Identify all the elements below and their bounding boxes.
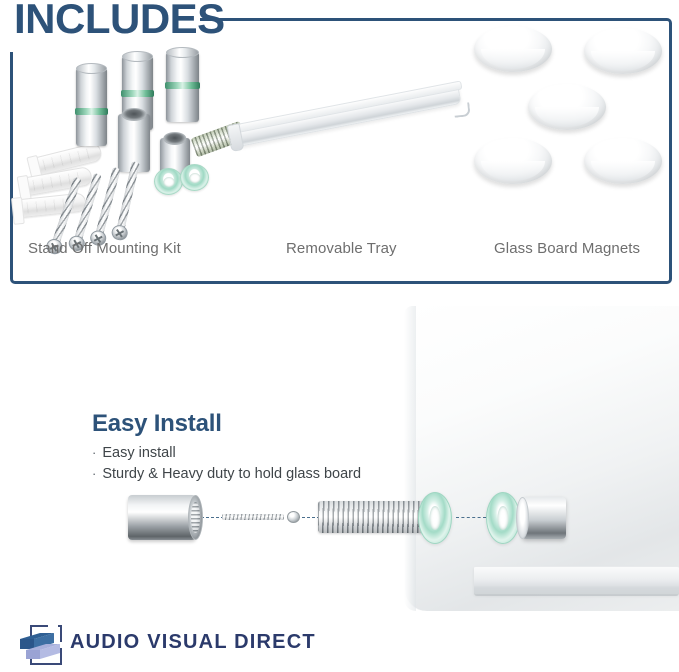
easy-install-bullet-text: Easy install <box>102 444 175 462</box>
standoff-barrel <box>76 68 107 146</box>
footer-logo: AUDIO VISUAL DIRECT <box>18 622 318 668</box>
standoff-barrel <box>166 52 199 122</box>
dome-magnet <box>474 138 552 184</box>
bullet-dot-icon: · <box>92 444 96 462</box>
dome-magnet <box>584 138 662 184</box>
diagram-centerline <box>456 517 486 518</box>
glass-washer-part <box>418 492 452 544</box>
tray-hook <box>453 102 470 118</box>
audio-visual-direct-logo-mark <box>18 622 70 668</box>
easy-install-bullet: · Sturdy & Heavy duty to hold glass boar… <box>92 465 422 483</box>
dome-magnet <box>528 84 606 130</box>
dome-magnet <box>474 26 552 72</box>
product-label-removable-tray: Removable Tray <box>286 240 397 257</box>
threaded-stud-part <box>318 501 430 533</box>
bullet-dot-icon: · <box>92 465 96 483</box>
easy-install-bullet-text: Sturdy & Heavy duty to hold glass board <box>102 465 361 483</box>
includes-section: INCLUDES <box>0 0 679 292</box>
glass-washer <box>154 168 183 195</box>
mounting-screw-part <box>222 511 300 523</box>
dome-magnet <box>584 28 662 74</box>
easy-install-section: Easy Install · Easy install · Sturdy & H… <box>92 410 422 483</box>
product-label-glass-board-magnets: Glass Board Magnets <box>494 240 640 257</box>
easy-install-title: Easy Install <box>92 410 422 438</box>
product-label-standoff-kit: Stand Off Mounting Kit <box>28 240 181 257</box>
glass-washer-part <box>486 492 520 544</box>
aluminum-tray-icon <box>232 100 472 200</box>
chrome-end-cap-part <box>522 497 566 539</box>
mounted-marker-tray-lip <box>474 586 679 596</box>
barrel-sleeve-part <box>128 495 196 540</box>
glass-washer <box>180 164 209 191</box>
easy-install-bullet: · Easy install <box>92 444 422 462</box>
brand-name: AUDIO VISUAL DIRECT <box>70 631 316 654</box>
exploded-install-diagram <box>118 487 548 549</box>
standoff-hardware-icon <box>14 28 224 233</box>
dome-magnet-icon <box>470 22 670 192</box>
